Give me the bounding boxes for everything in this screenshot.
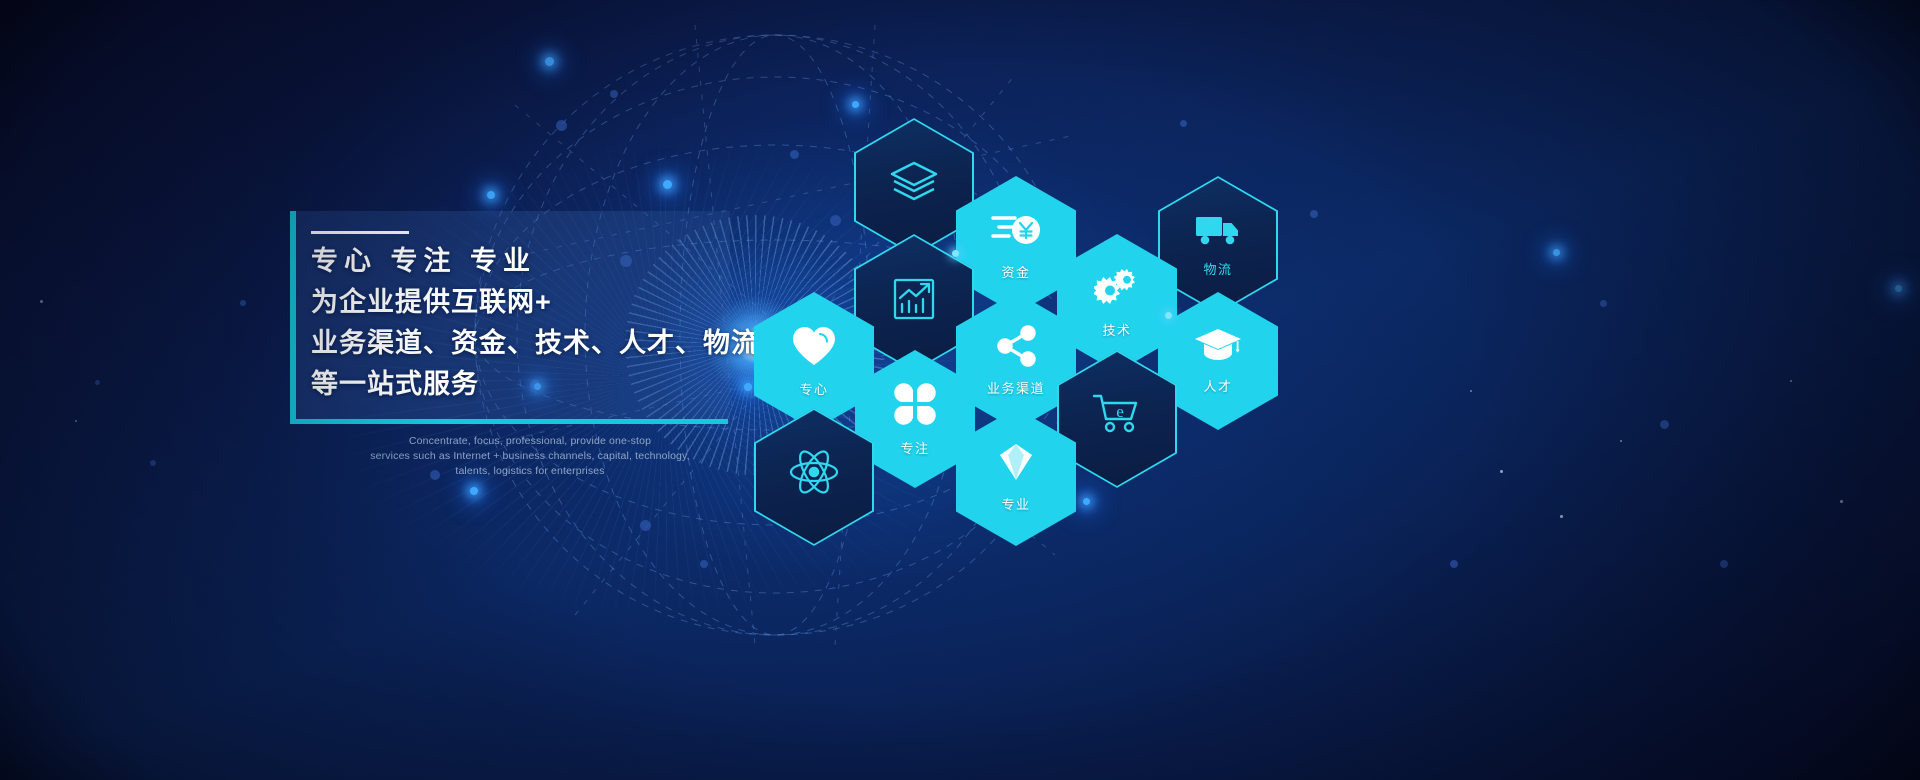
hero-banner: 专心 专注 专业 为企业提供互联网+ 业务渠道、资金、技术、人才、物流 等一站式… (0, 0, 1920, 780)
vignette-overlay (0, 0, 1920, 780)
